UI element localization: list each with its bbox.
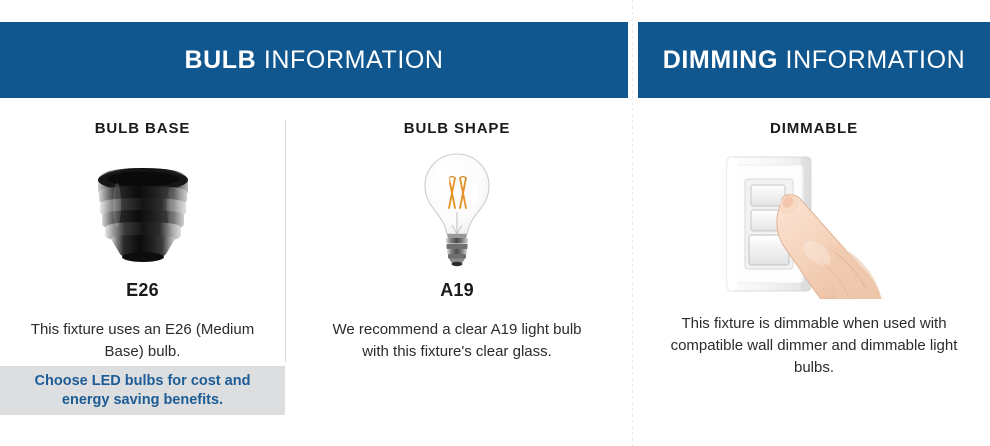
bulb-shape-column: BULB SHAPE (286, 110, 628, 363)
panel-divider (632, 0, 633, 446)
bulb-shape-description: We recommend a clear A19 light bulb with… (320, 319, 595, 363)
led-callout: Choose LED bulbs for cost and energy sav… (0, 366, 285, 415)
bulb-base-value: E26 (0, 280, 285, 301)
e26-screw-base-icon (0, 143, 285, 278)
dimming-information-banner: DIMMING INFORMATION (638, 22, 990, 98)
banner-title-bold: BULB (184, 46, 256, 74)
a19-bulb-icon (286, 143, 628, 278)
bulb-base-column: BULB BASE (0, 110, 285, 363)
dimmable-column: DIMMABLE (638, 110, 990, 379)
bulb-shape-value: A19 (286, 280, 628, 301)
dimmable-heading: DIMMABLE (638, 120, 990, 137)
banner-title-rest: INFORMATION (778, 46, 965, 74)
bulb-information-banner: BULB INFORMATION (0, 22, 628, 98)
bulb-base-heading: BULB BASE (0, 120, 285, 137)
banner-title-rest: INFORMATION (256, 46, 443, 74)
bulb-information-banner-title: BULB INFORMATION (184, 46, 443, 75)
dimmable-description: This fixture is dimmable when used with … (664, 313, 964, 379)
bulb-shape-heading: BULB SHAPE (286, 120, 628, 137)
led-callout-text: Choose LED bulbs for cost and energy sav… (0, 372, 285, 410)
dimming-information-banner-title: DIMMING INFORMATION (663, 46, 966, 75)
banner-title-bold: DIMMING (663, 46, 778, 74)
bulb-base-description: This fixture uses an E26 (Medium Base) b… (18, 319, 268, 363)
wall-dimmer-switch-icon (638, 149, 990, 299)
